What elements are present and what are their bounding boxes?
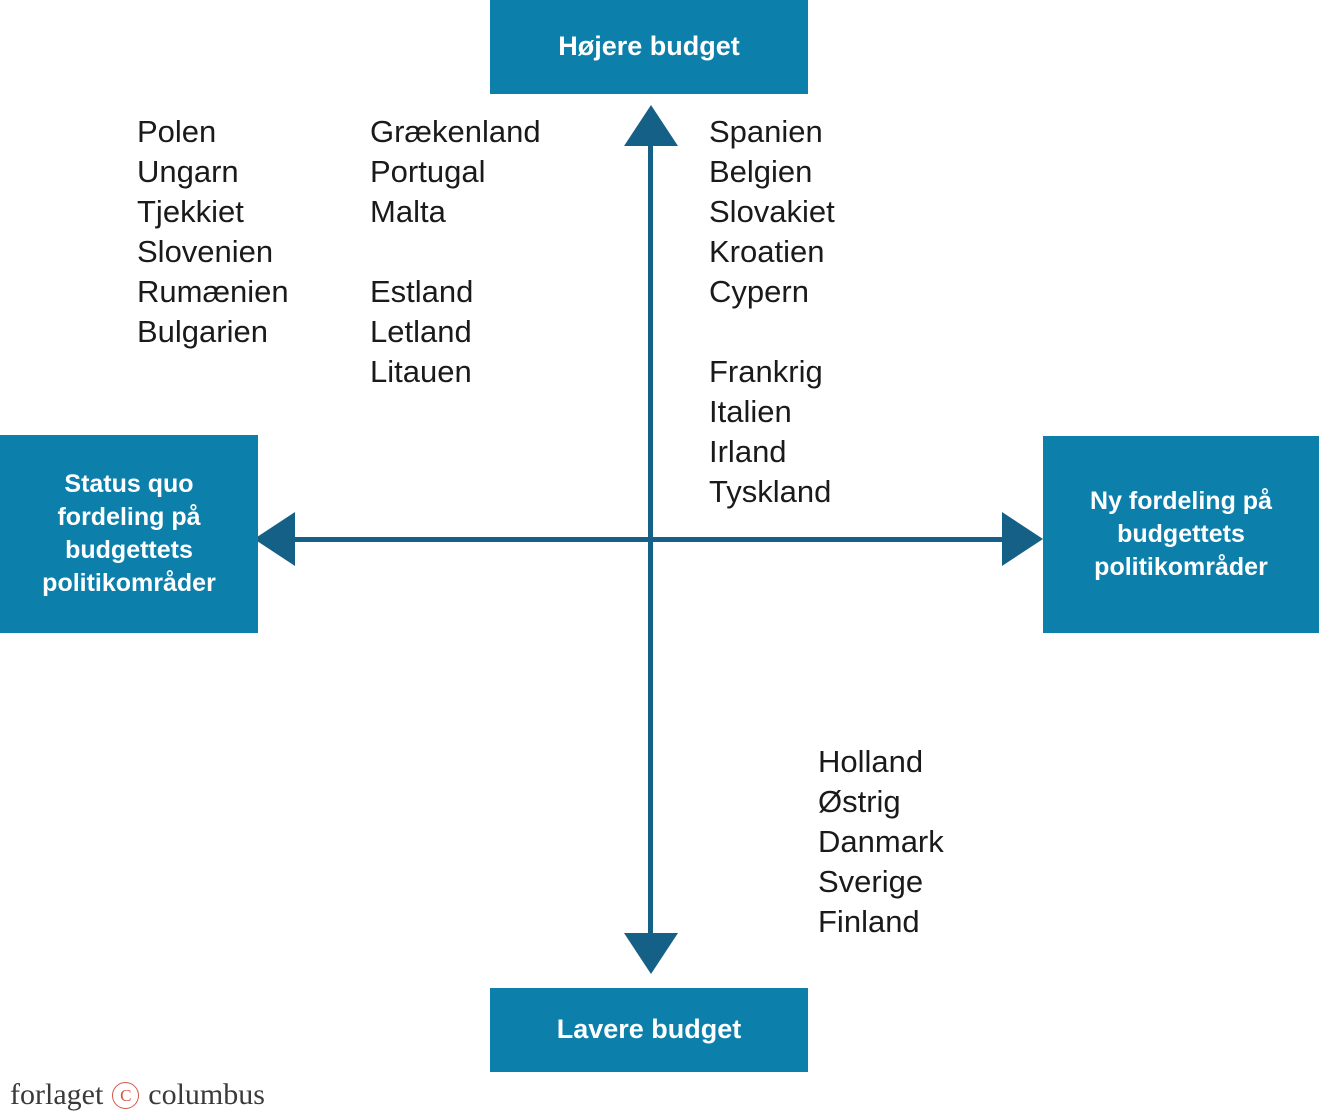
- country-label: Tyskland: [709, 472, 831, 512]
- axis-label-right: Ny fordeling på budgettets politikområde…: [1043, 436, 1319, 633]
- country-label: Portugal: [370, 152, 541, 192]
- axis-label-left: Status quo fordeling på budgettets polit…: [0, 435, 258, 633]
- arrow-left-icon: [254, 512, 295, 566]
- country-label: Sverige: [818, 862, 944, 902]
- axis-label-bottom: Lavere budget: [490, 988, 808, 1072]
- arrow-up-icon: [624, 105, 678, 146]
- country-label: Tjekkiet: [137, 192, 289, 232]
- country-group-lower-right: Holland Østrig Danmark Sverige Finland: [818, 742, 944, 942]
- country-label: Finland: [818, 902, 944, 942]
- country-label: Polen: [137, 112, 289, 152]
- country-label: Italien: [709, 392, 831, 432]
- country-label: Belgien: [709, 152, 835, 192]
- country-group-upper-left-middle-bottom: Estland Letland Litauen: [370, 272, 473, 392]
- country-label: Danmark: [818, 822, 944, 862]
- country-label: Bulgarien: [137, 312, 289, 352]
- country-label: Ungarn: [137, 152, 289, 192]
- horizontal-axis-line: [286, 537, 1016, 542]
- arrow-right-icon: [1002, 512, 1043, 566]
- arrow-down-icon: [624, 933, 678, 974]
- publisher-prefix: forlaget: [10, 1078, 103, 1112]
- country-label: Malta: [370, 192, 541, 232]
- country-label: Holland: [818, 742, 944, 782]
- publisher-name: columbus: [148, 1078, 265, 1112]
- country-label: Grækenland: [370, 112, 541, 152]
- country-label: Slovakiet: [709, 192, 835, 232]
- vertical-axis-line: [648, 110, 653, 950]
- country-label: Slovenien: [137, 232, 289, 272]
- country-label: Frankrig: [709, 352, 831, 392]
- country-label: Letland: [370, 312, 473, 352]
- country-label: Kroatien: [709, 232, 835, 272]
- country-label: Rumænien: [137, 272, 289, 312]
- country-label: Østrig: [818, 782, 944, 822]
- country-group-upper-left-middle-top: Grækenland Portugal Malta: [370, 112, 541, 232]
- country-label: Cypern: [709, 272, 835, 312]
- diagram-canvas: Højere budget Lavere budget Status quo f…: [0, 0, 1329, 1119]
- publisher-logo: forlaget C columbus: [10, 1078, 265, 1112]
- country-label: Spanien: [709, 112, 835, 152]
- copyright-icon: C: [112, 1082, 139, 1109]
- country-label: Litauen: [370, 352, 473, 392]
- country-label: Irland: [709, 432, 831, 472]
- country-label: Estland: [370, 272, 473, 312]
- country-group-upper-left-inner: Polen Ungarn Tjekkiet Slovenien Rumænien…: [137, 112, 289, 352]
- country-group-upper-right-top: Spanien Belgien Slovakiet Kroatien Cyper…: [709, 112, 835, 312]
- axis-label-top: Højere budget: [490, 0, 808, 94]
- country-group-upper-right-bottom: Frankrig Italien Irland Tyskland: [709, 352, 831, 512]
